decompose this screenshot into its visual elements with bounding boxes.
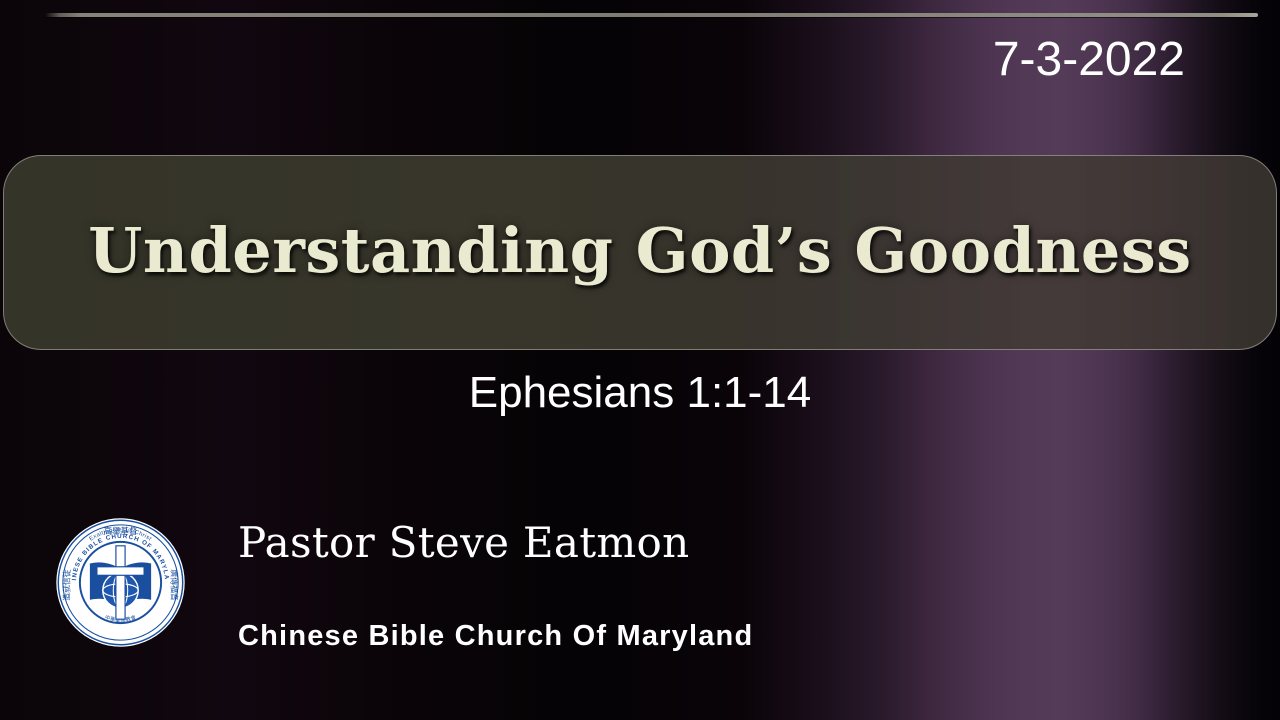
slide-date: 7-3-2022 bbox=[993, 36, 1185, 84]
svg-text:高舉基督: 高舉基督 bbox=[103, 526, 138, 537]
title-panel: Understanding God’s Goodness bbox=[3, 155, 1277, 350]
presentation-slide: 7-3-2022 Understanding God’s Goodness Ep… bbox=[0, 0, 1280, 720]
slide-title: Understanding God’s Goodness bbox=[88, 214, 1191, 287]
svg-text:廣傳福音: 廣傳福音 bbox=[170, 569, 180, 601]
top-decorative-rule bbox=[45, 13, 1258, 17]
church-logo: CHINESE BIBLE CHURCH OF MARYLAND Exaltin… bbox=[55, 517, 186, 648]
scripture-reference: Ephesians 1:1-14 bbox=[0, 368, 1280, 418]
speaker-name: Pastor Steve Eatmon bbox=[238, 518, 689, 567]
organization-name: Chinese Bible Church Of Maryland bbox=[238, 620, 753, 653]
svg-text:造就信徒: 造就信徒 bbox=[61, 569, 71, 601]
